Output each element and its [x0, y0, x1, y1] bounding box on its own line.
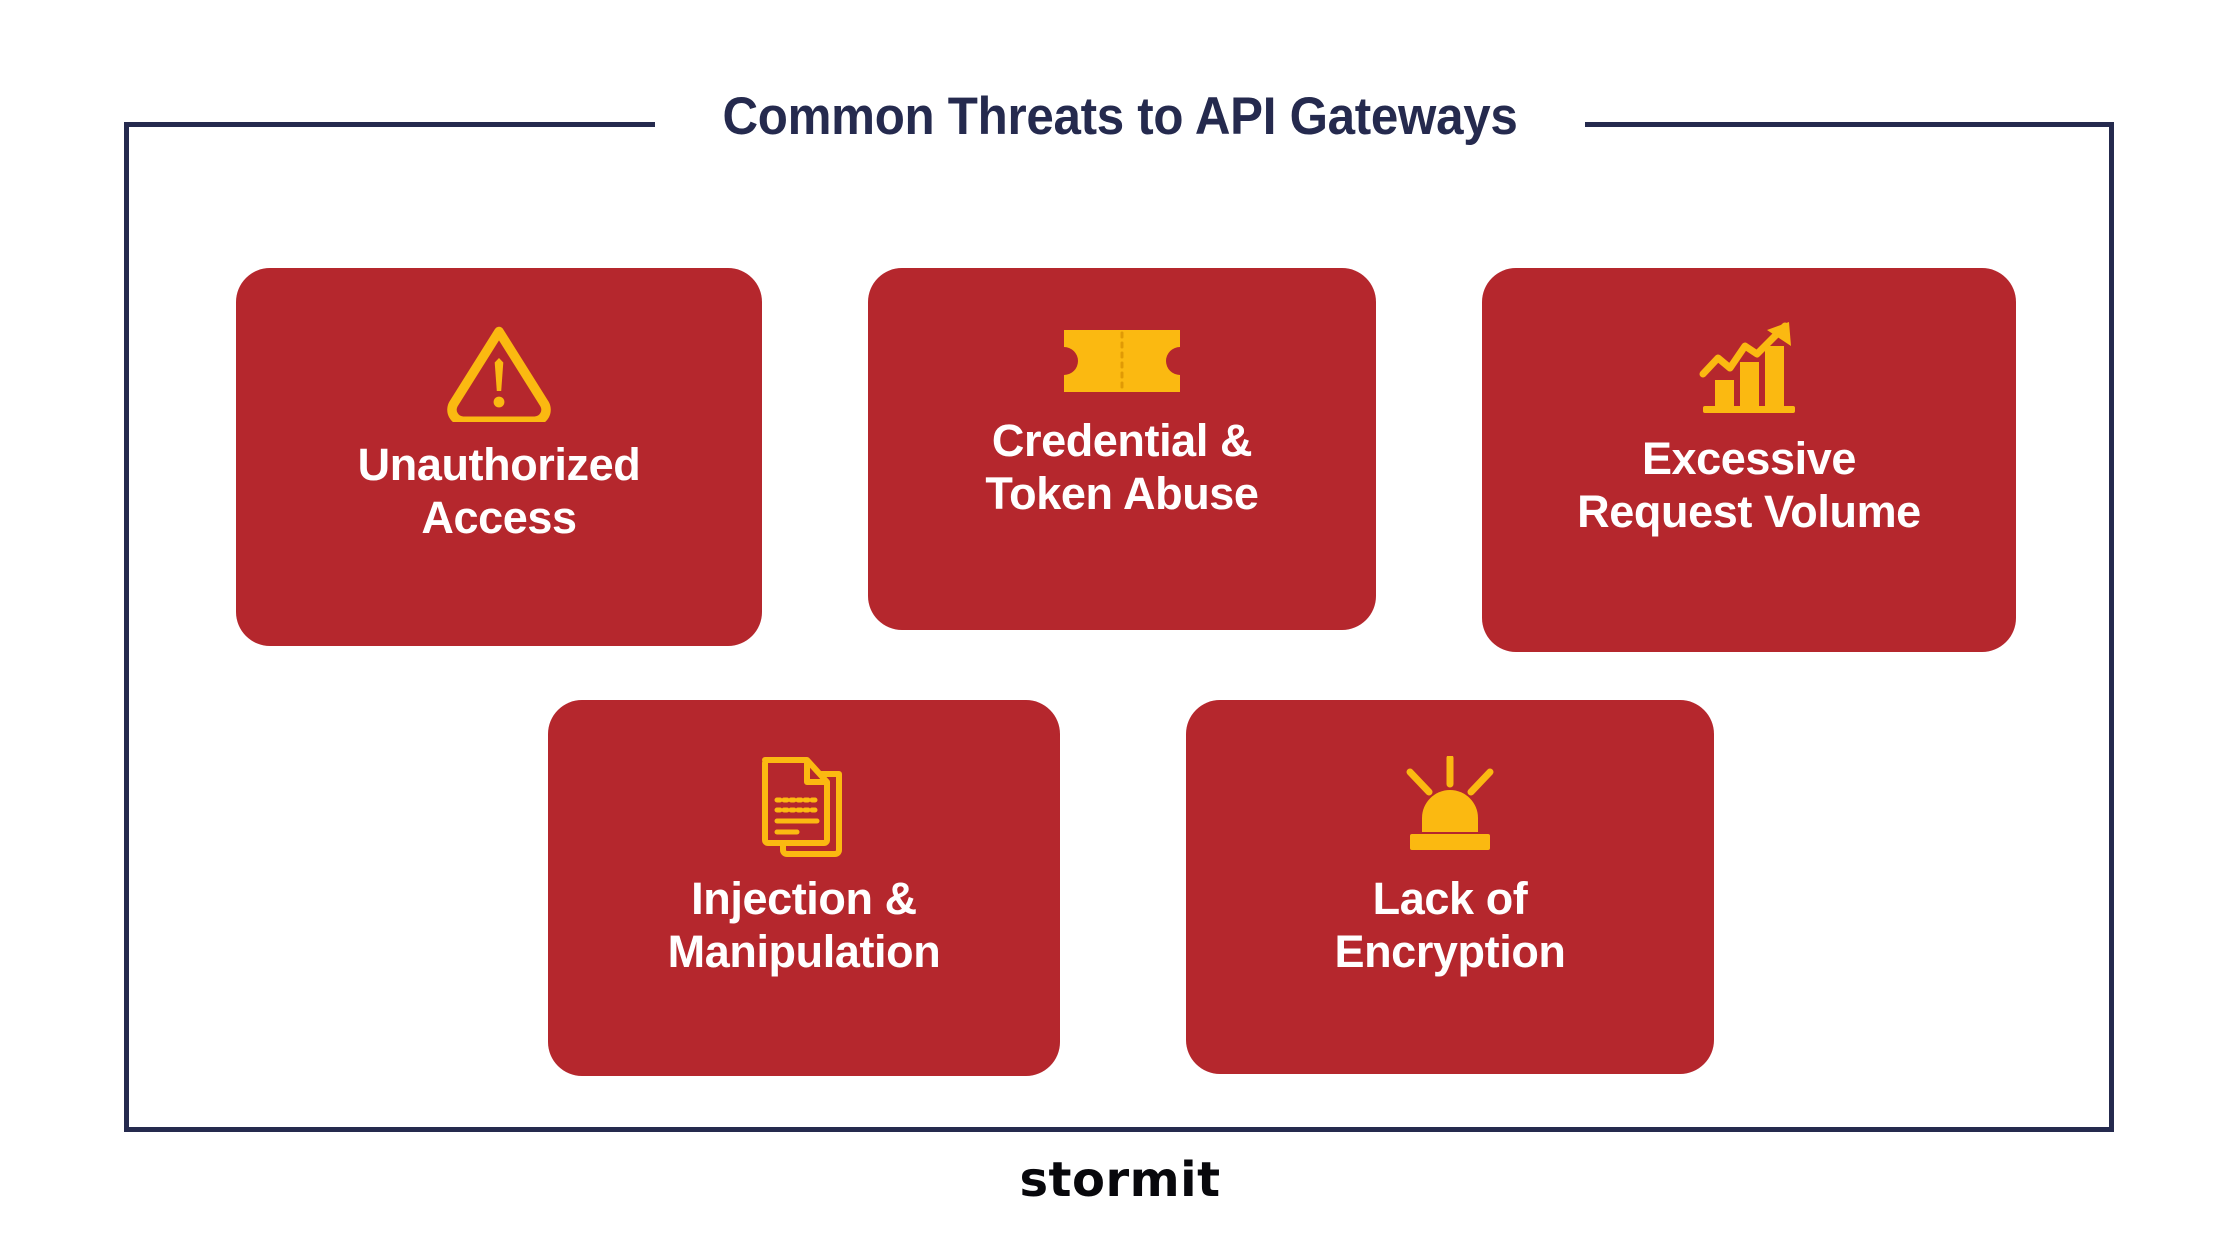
threat-card-label: Credential & Token Abuse: [967, 414, 1276, 520]
threat-card-unauthorized-access[interactable]: Unauthorized Access: [236, 268, 762, 646]
page-title: Common Threats to API Gateways: [78, 86, 2161, 147]
ticket-icon: [1064, 330, 1180, 392]
threat-card-injection-manipulation[interactable]: Injection & Manipulation: [548, 700, 1060, 1076]
threat-card-excessive-request-volume[interactable]: Excessive Request Volume: [1482, 268, 2016, 652]
warning-triangle-icon: [445, 322, 553, 422]
threat-card-credential-token-abuse[interactable]: Credential & Token Abuse: [868, 268, 1376, 630]
siren-icon: [1398, 756, 1502, 852]
threat-card-label: Injection & Manipulation: [650, 872, 959, 978]
threat-card-lack-of-encryption[interactable]: Lack of Encryption: [1186, 700, 1714, 1074]
chart-increasing-icon: [1697, 320, 1801, 418]
threat-card-label: Excessive Request Volume: [1559, 432, 1939, 538]
threat-card-label: Unauthorized Access: [340, 438, 659, 544]
threat-card-label: Lack of Encryption: [1316, 872, 1583, 978]
documents-icon: [755, 754, 853, 858]
stormit-logo: stormit: [0, 1152, 2240, 1208]
